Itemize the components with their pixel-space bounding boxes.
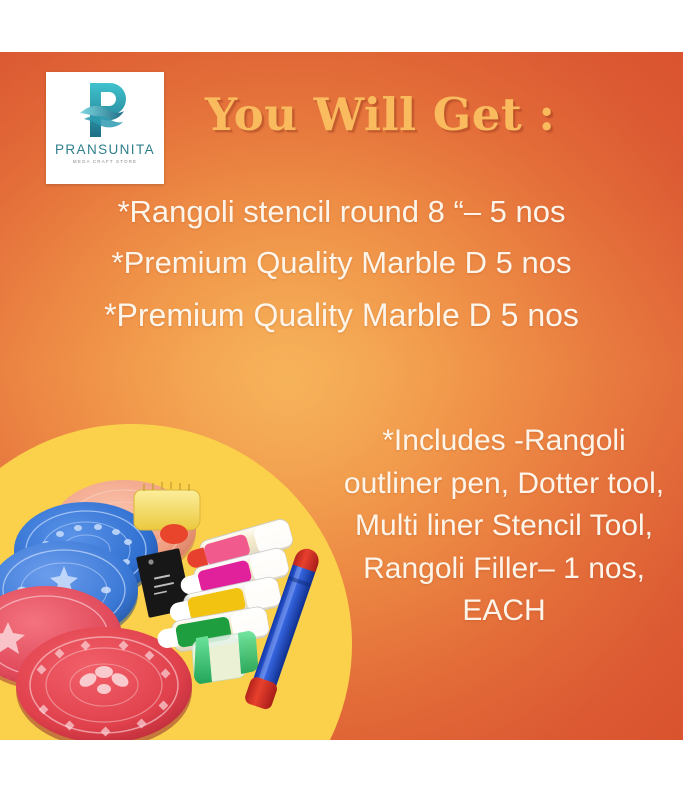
list-item: *Rangoli stencil round 8 “– 5 nos	[0, 192, 683, 233]
brand-tagline: MEGA CRAFT STORE	[73, 160, 137, 165]
product-photo	[0, 444, 344, 740]
brand-name: PRANSUNITA	[55, 143, 155, 157]
poster-artwork: PRANSUNITA MEGA CRAFT STORE You Will Get…	[0, 52, 683, 740]
poster-page: PRANSUNITA MEGA CRAFT STORE You Will Get…	[0, 0, 683, 800]
inclusions-list: *Rangoli stencil round 8 “– 5 nos *Premi…	[0, 192, 683, 336]
list-item: *Premium Quality Marble D 5 nos	[0, 294, 683, 336]
list-item: *Premium Quality Marble D 5 nos	[0, 243, 683, 284]
sponge-red-cap	[160, 524, 188, 544]
brand-logo-card: PRANSUNITA MEGA CRAFT STORE	[46, 72, 164, 184]
includes-paragraph: *Includes -Rangoli outliner pen, Dotter …	[336, 420, 672, 633]
filler-tool	[192, 631, 258, 684]
pransunita-monogram-icon	[72, 79, 138, 141]
rangoli-kit-illustration	[0, 444, 344, 740]
headline-title: You Will Get :	[205, 92, 665, 137]
